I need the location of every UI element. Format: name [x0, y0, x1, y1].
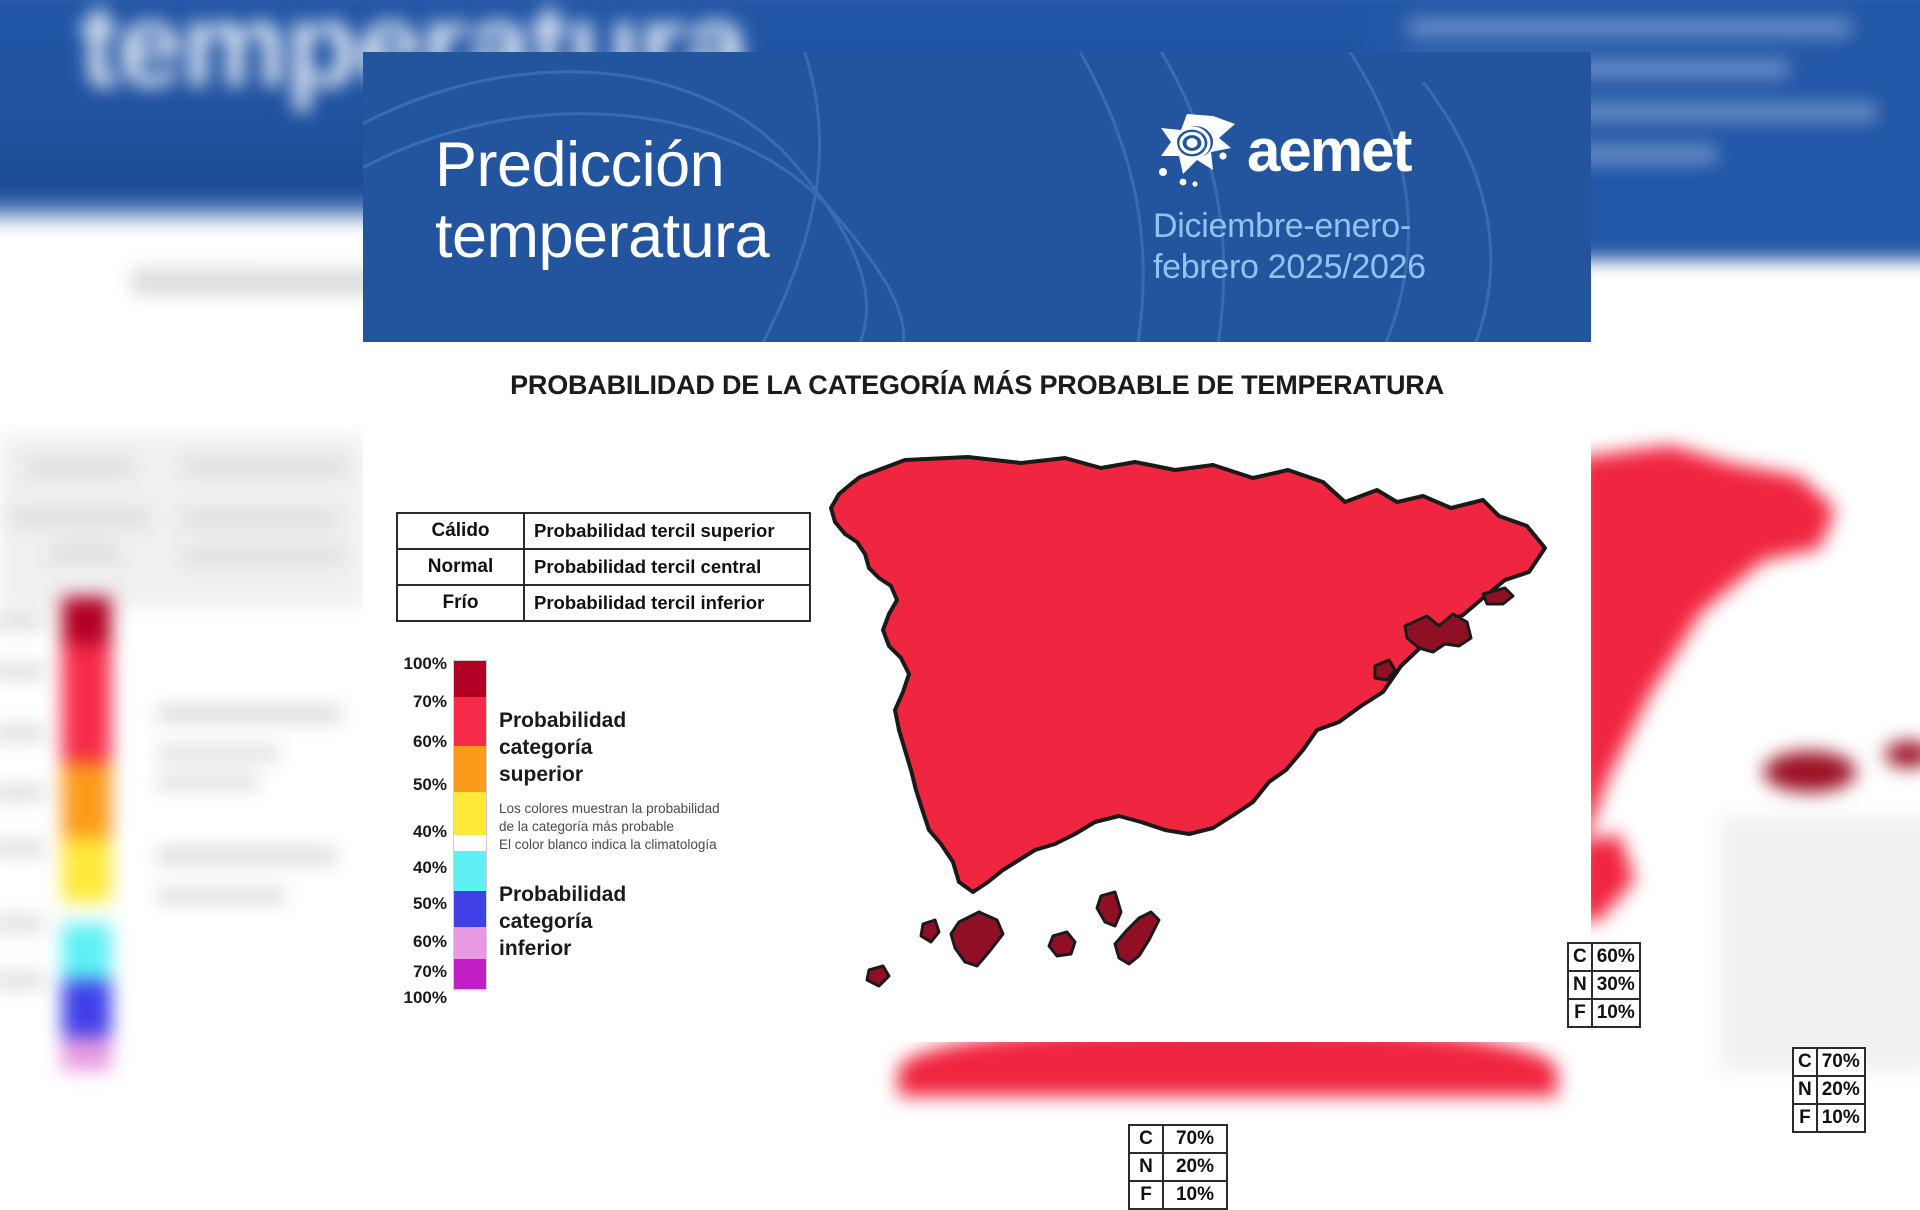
- brand-name: aemet: [1247, 121, 1410, 181]
- canary-tenerife-shape: [951, 912, 1003, 966]
- canary-grancanaria-shape: [1049, 932, 1075, 956]
- background-tick: [0, 973, 45, 988]
- scale-tick: 50%: [413, 775, 447, 795]
- category-legend-table: Cálido Probabilidad tercil superior Norm…: [396, 512, 811, 622]
- prob-value: 10%: [1163, 1181, 1227, 1209]
- table-row: C 70%: [1793, 1048, 1865, 1076]
- prob-label: C: [1129, 1125, 1163, 1153]
- color-scale-bar: [453, 660, 487, 990]
- forecast-period: Diciembre-enero- febrero 2025/2026: [1153, 206, 1533, 288]
- canary-gomera-hierro-shape: [867, 966, 889, 986]
- category-value: Probabilidad tercil inferior: [524, 585, 810, 621]
- scale-note: Los colores muestran la probabilidad de …: [499, 800, 720, 854]
- background-legend-text: [157, 775, 260, 789]
- background-cell: [48, 545, 120, 561]
- scale-tick: 100%: [404, 654, 447, 674]
- background-tick: [0, 725, 45, 740]
- prob-value: 60%: [1592, 943, 1640, 971]
- scale-lower-label: Probabilidad categoría inferior: [499, 882, 626, 963]
- prob-label: F: [1568, 999, 1592, 1027]
- background-island: [1763, 751, 1856, 792]
- scale-note-line2: de la categoría más probable: [499, 818, 720, 836]
- scale-tick: 60%: [413, 732, 447, 752]
- background-legend-text: [157, 746, 281, 760]
- category-value: Probabilidad tercil central: [524, 549, 810, 585]
- scale-note-line1: Los colores muestran la probabilidad: [499, 800, 720, 818]
- canary-lapalma-shape: [921, 920, 939, 942]
- background-tick: [0, 664, 45, 679]
- table-row: N 30%: [1568, 971, 1640, 999]
- category-key: Cálido: [397, 513, 524, 549]
- category-value: Probabilidad tercil superior: [524, 513, 810, 549]
- prob-label: C: [1568, 943, 1592, 971]
- prob-label: F: [1793, 1104, 1817, 1132]
- table-row: F 10%: [1568, 999, 1640, 1027]
- peninsula-shape: [831, 457, 1545, 892]
- prob-box-baleares: C 70% N 20% F 10%: [1792, 1047, 1866, 1133]
- prob-value: 10%: [1817, 1104, 1865, 1132]
- background-tick: [0, 841, 45, 856]
- scale-tick: 50%: [413, 894, 447, 914]
- page-title-line1: Predicción: [435, 130, 724, 200]
- table-row: Frío Probabilidad tercil inferior: [397, 585, 810, 621]
- prob-label: N: [1568, 971, 1592, 999]
- prob-box-peninsula: C 60% N 30% F 10%: [1567, 942, 1641, 1028]
- prob-value: 20%: [1817, 1076, 1865, 1104]
- aemet-logo-icon: [1153, 112, 1239, 190]
- prob-value: 30%: [1592, 971, 1640, 999]
- page-title-line2: temperatura: [435, 201, 769, 272]
- scale-tick: 100%: [404, 988, 447, 1008]
- background-cell: [182, 548, 342, 563]
- scale-note-line3: El color blanco indica la climatología: [499, 836, 720, 854]
- scale-tick: 40%: [413, 822, 447, 842]
- prob-value: 70%: [1163, 1125, 1227, 1153]
- scale-lower-line1: Probabilidad: [499, 882, 626, 909]
- background-prob-box: [1722, 818, 1920, 1069]
- scale-upper-line1: Probabilidad: [499, 708, 626, 735]
- forecast-period-line2: febrero 2025/2026: [1153, 247, 1533, 288]
- background-legend-text: [157, 888, 286, 903]
- color-scale-ticks: 100% 70% 60% 50% 40% 40% 50% 60% 70% 100…: [381, 660, 447, 1020]
- background-cell: [10, 509, 149, 525]
- background-tick: [0, 916, 45, 931]
- table-row: N 20%: [1793, 1076, 1865, 1104]
- background-cell: [25, 460, 133, 476]
- prob-label: C: [1793, 1048, 1817, 1076]
- prob-value: 10%: [1592, 999, 1640, 1027]
- card-header: Predicción temperatura: [363, 52, 1591, 342]
- category-key: Frío: [397, 585, 524, 621]
- scale-upper-line3: superior: [499, 762, 626, 789]
- table-row: Normal Probabilidad tercil central: [397, 549, 810, 585]
- prob-box-canarias: C 70% N 20% F 10%: [1128, 1124, 1228, 1210]
- category-key: Normal: [397, 549, 524, 585]
- scale-upper-label: Probabilidad categoría superior: [499, 708, 626, 789]
- spain-map-svg: [783, 430, 1583, 1030]
- table-row: F 10%: [1793, 1104, 1865, 1132]
- table-row: C 70%: [1129, 1125, 1227, 1153]
- prob-label: N: [1129, 1153, 1163, 1181]
- scale-lower-line2: categoría: [499, 909, 626, 936]
- scale-lower-line3: inferior: [499, 936, 626, 963]
- scale-upper-line2: categoría: [499, 735, 626, 762]
- background-legend-text: [157, 847, 337, 865]
- background-tick: [0, 785, 45, 800]
- canary-lanzarote-shape: [1097, 892, 1121, 926]
- scale-tick: 60%: [413, 932, 447, 952]
- infographic-card: Predicción temperatura: [363, 52, 1591, 1042]
- scale-tick: 70%: [413, 962, 447, 982]
- table-row: C 60%: [1568, 943, 1640, 971]
- background-cell: [182, 460, 347, 475]
- forecast-map: C 60% N 30% F 10% C 70% N 20% F: [783, 430, 1583, 1030]
- color-scale-legend: 100% 70% 60% 50% 40% 40% 50% 60% 70% 100…: [381, 660, 811, 1020]
- page-title: Predicción temperatura: [435, 130, 769, 272]
- forecast-period-line1: Diciembre-enero-: [1153, 207, 1411, 245]
- prob-label: N: [1793, 1076, 1817, 1104]
- prob-label: F: [1129, 1181, 1163, 1209]
- canary-fuerteventura-shape: [1115, 912, 1159, 964]
- main-heading: PROBABILIDAD DE LA CATEGORÍA MÁS PROBABL…: [363, 370, 1591, 401]
- background-legend-text: [157, 705, 342, 723]
- scale-tick: 70%: [413, 692, 447, 712]
- prob-value: 70%: [1817, 1048, 1865, 1076]
- background-colorbar: [62, 597, 111, 1071]
- brand-block: aemet Diciembre-enero- febrero 2025/2026: [1153, 112, 1533, 288]
- table-row: N 20%: [1129, 1153, 1227, 1181]
- background-tick: [0, 614, 45, 629]
- scale-tick: 40%: [413, 858, 447, 878]
- background-cell: [182, 511, 337, 526]
- prob-value: 20%: [1163, 1153, 1227, 1181]
- table-row: F 10%: [1129, 1181, 1227, 1209]
- table-row: Cálido Probabilidad tercil superior: [397, 513, 810, 549]
